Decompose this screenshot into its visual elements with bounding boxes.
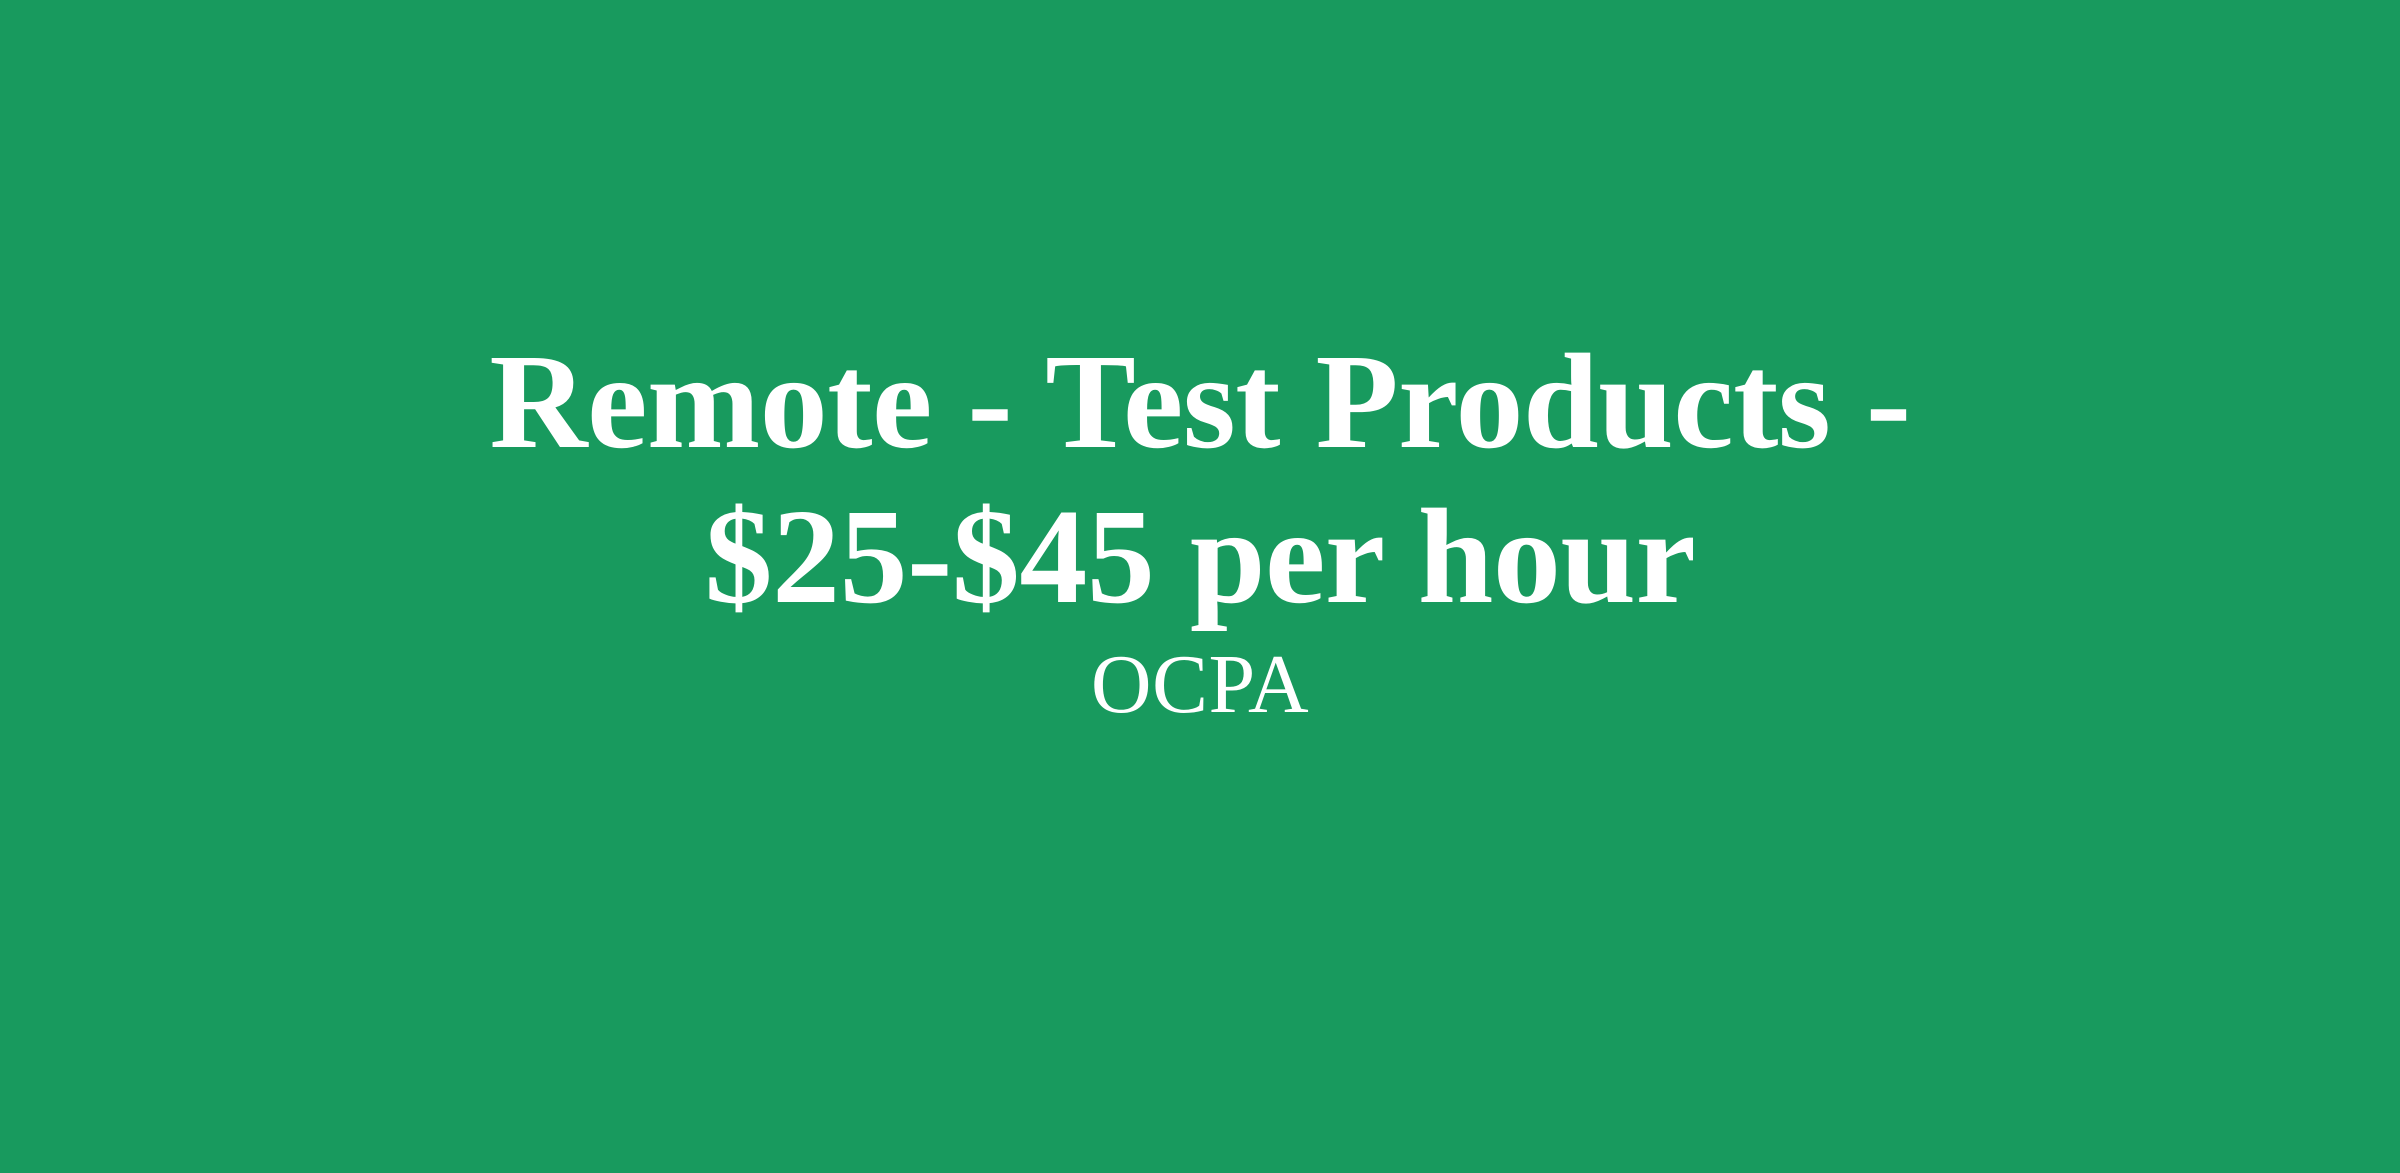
organization-name: OCPA	[450, 637, 1950, 733]
card-text-block: Remote - Test Products - $25-$45 per hou…	[200, 325, 2200, 733]
job-listing-card: Remote - Test Products - $25-$45 per hou…	[0, 0, 2400, 1173]
page-title: Remote - Test Products - $25-$45 per hou…	[450, 325, 1950, 635]
